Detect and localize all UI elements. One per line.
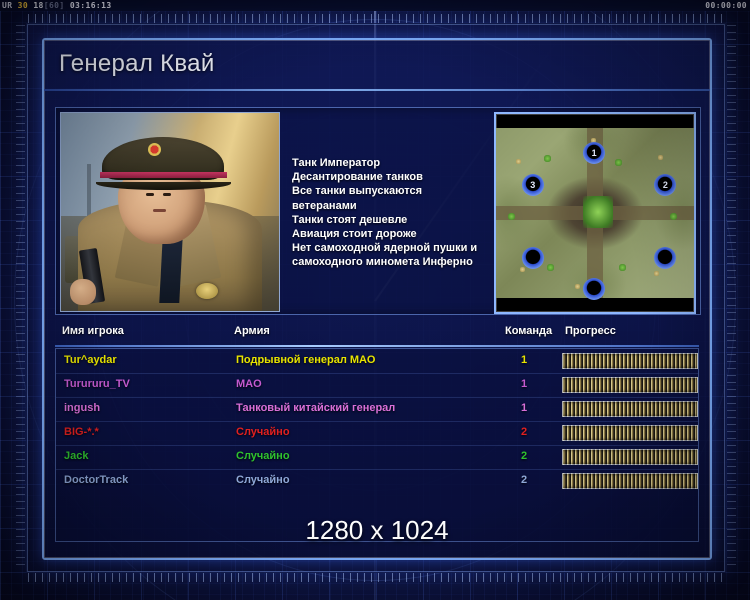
status-ur-label: UR [2, 1, 12, 10]
player-army: Случайно [236, 426, 290, 438]
table-row[interactable]: Turururu_TVMAO1 [56, 373, 698, 397]
player-progress-bar [562, 473, 698, 489]
table-row[interactable]: DoctorTrackСлучайно2 [56, 469, 698, 493]
resolution-label: 1280 x 1024 [44, 515, 710, 546]
title-divider [44, 89, 710, 91]
player-team: 2 [511, 474, 537, 486]
status-session-time: 03:16:13 [70, 1, 112, 10]
player-progress-bar [562, 401, 698, 417]
player-table: Tur^aydarПодрывной генерал МАО1Turururu_… [55, 348, 699, 542]
top-status-bar: UR 30 18[60] 03:16:13 00:00:00 [0, 0, 750, 11]
map-rock [575, 284, 580, 289]
map-rock [520, 267, 525, 272]
status-count: 18 [33, 1, 43, 10]
column-header-progress: Прогресс [565, 325, 616, 337]
general-cap-band [100, 172, 226, 178]
table-row[interactable]: ingushТанковый китайский генерал1 [56, 397, 698, 421]
frame-ticks-bottom [28, 573, 724, 582]
player-progress-bar [562, 449, 698, 465]
player-name: DoctorTrack [64, 474, 128, 486]
map-tree [508, 213, 515, 220]
player-name: Tur^aydar [64, 354, 117, 366]
player-name: Jack [64, 450, 88, 462]
map-start-position [654, 247, 676, 269]
map-rock [516, 159, 521, 164]
player-name: ingush [64, 402, 100, 414]
map-rock [658, 155, 663, 160]
player-team: 1 [511, 354, 537, 366]
table-row[interactable]: JackСлучайно2 [56, 445, 698, 469]
player-team: 1 [511, 378, 537, 390]
player-table-header: Имя игрока Армия Команда Прогресс [55, 325, 699, 345]
player-team: 2 [511, 450, 537, 462]
general-mouth [153, 209, 166, 212]
column-header-army: Армия [234, 325, 270, 337]
map-tree [544, 155, 551, 162]
status-left-group: UR 30 18[60] 03:16:13 [2, 0, 112, 11]
title-zone: Генерал Квай [44, 40, 710, 90]
general-tie [160, 236, 183, 303]
frame-ticks-left [16, 25, 25, 571]
map-preview: 123 [494, 112, 696, 314]
player-army: Случайно [236, 474, 290, 486]
player-team: 1 [511, 402, 537, 414]
game-screen: UR 30 18[60] 03:16:13 00:00:00 Генерал К… [0, 0, 750, 600]
frame-ticks-right [727, 25, 736, 571]
general-portrait [60, 112, 280, 312]
player-name: BIG-*.* [64, 426, 99, 438]
player-progress-bar [562, 377, 698, 393]
general-info-block: Танк Император Десантирование танков Все… [55, 107, 701, 315]
general-eye-left [146, 193, 154, 196]
portrait-tower [87, 164, 91, 219]
map-start-position [583, 278, 605, 300]
player-army: MAO [236, 378, 262, 390]
player-name: Turururu_TV [64, 378, 130, 390]
status-count-max: [60] [44, 1, 65, 10]
map-rock [654, 271, 659, 276]
player-team: 2 [511, 426, 537, 438]
map-tree [615, 159, 622, 166]
player-table-divider [55, 345, 699, 347]
table-row[interactable]: BIG-*.*Случайно2 [56, 421, 698, 445]
page-title: Генерал Квай [59, 50, 215, 78]
loading-panel: Генерал Квай [42, 38, 712, 560]
player-progress-bar [562, 353, 698, 369]
column-header-team: Команда [505, 325, 552, 337]
player-army: Случайно [236, 450, 290, 462]
general-hand [70, 279, 96, 305]
status-right-time: 00:00:00 [705, 0, 747, 11]
frame-ticks-top [28, 14, 724, 23]
general-eye-right [163, 193, 171, 196]
table-row[interactable]: Tur^aydarПодрывной генерал МАО1 [56, 349, 698, 373]
player-army: Подрывной генерал МАО [236, 354, 375, 366]
player-army: Танковый китайский генерал [236, 402, 395, 414]
map-start-position: 1 [583, 142, 605, 164]
map-terrain: 123 [496, 128, 694, 298]
general-description: Танк Император Десантирование танков Все… [292, 156, 488, 270]
column-header-name: Имя игрока [62, 325, 124, 337]
player-progress-bar [562, 425, 698, 441]
map-center-feature [583, 196, 613, 228]
map-start-position: 3 [522, 174, 544, 196]
map-tree [547, 264, 554, 271]
status-fps: 30 [18, 1, 28, 10]
map-tree [619, 264, 626, 271]
map-start-position [522, 247, 544, 269]
general-cap-emblem-icon [148, 143, 161, 156]
map-start-position: 2 [654, 174, 676, 196]
map-tree [670, 213, 677, 220]
